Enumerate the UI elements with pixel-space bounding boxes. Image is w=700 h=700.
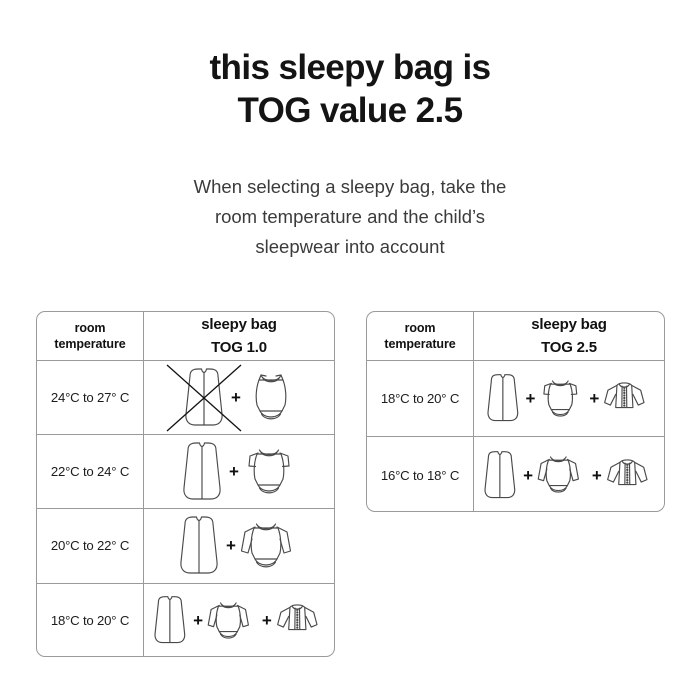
header-cell-garment: sleepy bagTOG 1.0 <box>144 312 334 360</box>
cardigan-icon <box>603 378 654 419</box>
temperature-cell: 20°C to 22° C <box>37 509 144 582</box>
table-row: 16°C to 18° C++ <box>367 437 664 512</box>
temperature-cell: 16°C to 18° C <box>367 437 474 512</box>
header-cell-temperature: roomtemperature <box>367 312 474 360</box>
bodysuit-sleeveless-icon <box>245 370 297 426</box>
bodysuit-long-sleeve-icon <box>240 518 302 574</box>
plus-separator-icon: + <box>522 467 534 484</box>
bodysuit-short-sleeve-icon <box>243 444 299 500</box>
garment-combination-cell: ++ <box>474 361 664 436</box>
sleepy-bag-icon <box>484 373 522 424</box>
page-title-line-1: this sleepy bag is <box>0 46 700 89</box>
header-cell-temperature: roomtemperature <box>37 312 144 360</box>
temperature-label: 16°C to 18° C <box>381 468 459 483</box>
cardigan-icon <box>276 600 327 641</box>
cardigan-icon <box>606 455 657 496</box>
header-garment-line-2: TOG 1.0 <box>211 338 267 358</box>
page-subtitle-line-3: sleepwear into account <box>0 232 700 262</box>
sleepy-bag-icon <box>179 441 225 503</box>
table-header-row: roomtemperaturesleepy bagTOG 1.0 <box>37 312 334 361</box>
temperature-label: 22°C to 24° C <box>51 464 129 479</box>
plus-separator-icon: + <box>192 612 204 629</box>
tog-table-2-5: roomtemperaturesleepy bagTOG 2.518°C to … <box>366 311 665 512</box>
plus-separator-icon: + <box>230 389 242 406</box>
page-subtitle: When selecting a sleepy bag, take the ro… <box>0 172 700 262</box>
sleepy-bag-icon <box>481 450 519 501</box>
plus-separator-icon: + <box>261 612 273 629</box>
plus-separator-icon: + <box>588 390 600 407</box>
bodysuit-short-sleeve-icon <box>539 376 585 422</box>
temperature-cell: 22°C to 24° C <box>37 435 144 508</box>
page-title: this sleepy bag is TOG value 2.5 <box>0 46 700 133</box>
page-title-line-2: TOG value 2.5 <box>0 89 700 132</box>
sleepy-bag-icon <box>151 595 189 646</box>
temperature-label: 18°C to 20° C <box>51 613 129 628</box>
plus-separator-icon: + <box>225 537 237 554</box>
table-row: 24°C to 27° C+ <box>37 361 334 435</box>
plus-separator-icon: + <box>525 390 537 407</box>
temperature-label: 18°C to 20° C <box>381 391 459 406</box>
bodysuit-long-sleeve-icon <box>537 452 588 498</box>
page-subtitle-line-1: When selecting a sleepy bag, take the <box>0 172 700 202</box>
plus-separator-icon: + <box>591 467 603 484</box>
table-row: 20°C to 22° C+ <box>37 509 334 583</box>
table-row: 18°C to 20° C++ <box>367 361 664 437</box>
temperature-label: 20°C to 22° C <box>51 538 129 553</box>
header-garment-line-1: sleepy bag <box>531 315 607 335</box>
table-row: 18°C to 20° C++ <box>37 584 334 657</box>
header-garment-line-1: sleepy bag <box>201 315 277 335</box>
garment-combination-cell: ++ <box>144 584 334 657</box>
bodysuit-long-sleeve-icon <box>207 598 258 644</box>
garment-combination-cell: + <box>144 361 334 434</box>
temperature-label: 24°C to 27° C <box>51 390 129 405</box>
header-garment-line-2: TOG 2.5 <box>541 338 597 358</box>
garment-combination-cell: ++ <box>474 437 664 512</box>
header-temperature-line-2: temperature <box>384 336 455 353</box>
sleepy-bag-icon <box>176 515 222 577</box>
garment-combination-cell: + <box>144 509 334 582</box>
table-row: 22°C to 24° C+ <box>37 435 334 509</box>
temperature-cell: 18°C to 20° C <box>367 361 474 436</box>
header-cell-garment: sleepy bagTOG 2.5 <box>474 312 664 360</box>
header-temperature-line-1: room <box>75 320 106 337</box>
header-temperature-line-2: temperature <box>54 336 125 353</box>
tog-table-1-0: roomtemperaturesleepy bagTOG 1.024°C to … <box>36 311 335 657</box>
sleepy-bag-icon <box>181 367 227 429</box>
table-header-row: roomtemperaturesleepy bagTOG 2.5 <box>367 312 664 361</box>
header-temperature-line-1: room <box>405 320 436 337</box>
page-subtitle-line-2: room temperature and the child’s <box>0 202 700 232</box>
temperature-cell: 18°C to 20° C <box>37 584 144 657</box>
plus-separator-icon: + <box>228 463 240 480</box>
temperature-cell: 24°C to 27° C <box>37 361 144 434</box>
garment-combination-cell: + <box>144 435 334 508</box>
